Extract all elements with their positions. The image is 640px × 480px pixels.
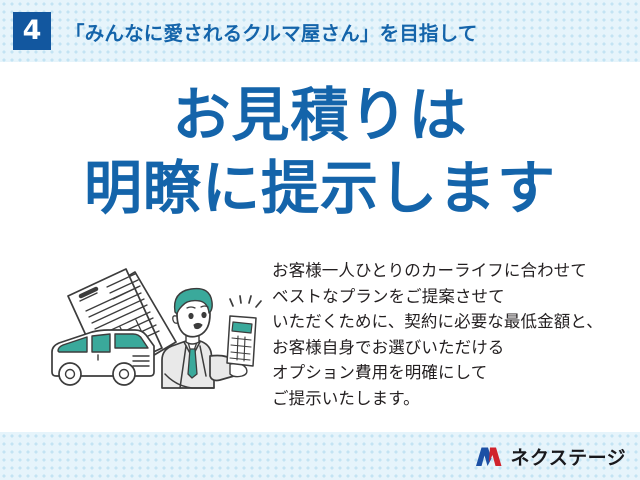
body-copy-line: オプション費用を明確にして <box>272 360 632 386</box>
body-copy-line: ベストなプランをご提案させて <box>272 284 632 310</box>
headline-line-1: お見積りは <box>0 86 640 145</box>
header-title: 「みんなに愛されるクルマ屋さん」を目指して <box>65 17 478 46</box>
brand-logo: ネクステージ <box>475 443 626 470</box>
body-copy-line: お客様一人ひとりのカーライフに合わせて <box>272 258 632 284</box>
calculator <box>227 316 256 366</box>
advertisement-poster: 4 「みんなに愛されるクルマ屋さん」を目指して お見積りは 明瞭に提示します <box>0 0 640 480</box>
body-copy: お客様一人ひとりのカーライフに合わせて ベストなプランをご提案させて いただくた… <box>272 258 632 411</box>
section-number-badge: 4 <box>13 12 51 50</box>
sparkle-icon <box>230 296 261 307</box>
body-copy-line: いただくために、契約に必要な最低金額と、 <box>272 309 632 335</box>
footer-bar: ネクステージ <box>0 432 640 480</box>
body-copy-line: ご提示いたします。 <box>272 386 632 412</box>
brand-name: ネクステージ <box>511 443 626 470</box>
body-copy-line: お客様自身でお選びいただける <box>272 335 632 361</box>
header-bar: 4 「みんなに愛されるクルマ屋さん」を目指して <box>0 0 640 62</box>
headline-line-2: 明瞭に提示します <box>0 159 640 218</box>
page-title: お見積りは 明瞭に提示します <box>0 86 640 218</box>
van-illustration <box>52 330 154 385</box>
nextage-n-logo-icon <box>475 446 505 467</box>
content-panel: お見積りは 明瞭に提示します <box>0 62 640 432</box>
illustration <box>34 256 266 408</box>
